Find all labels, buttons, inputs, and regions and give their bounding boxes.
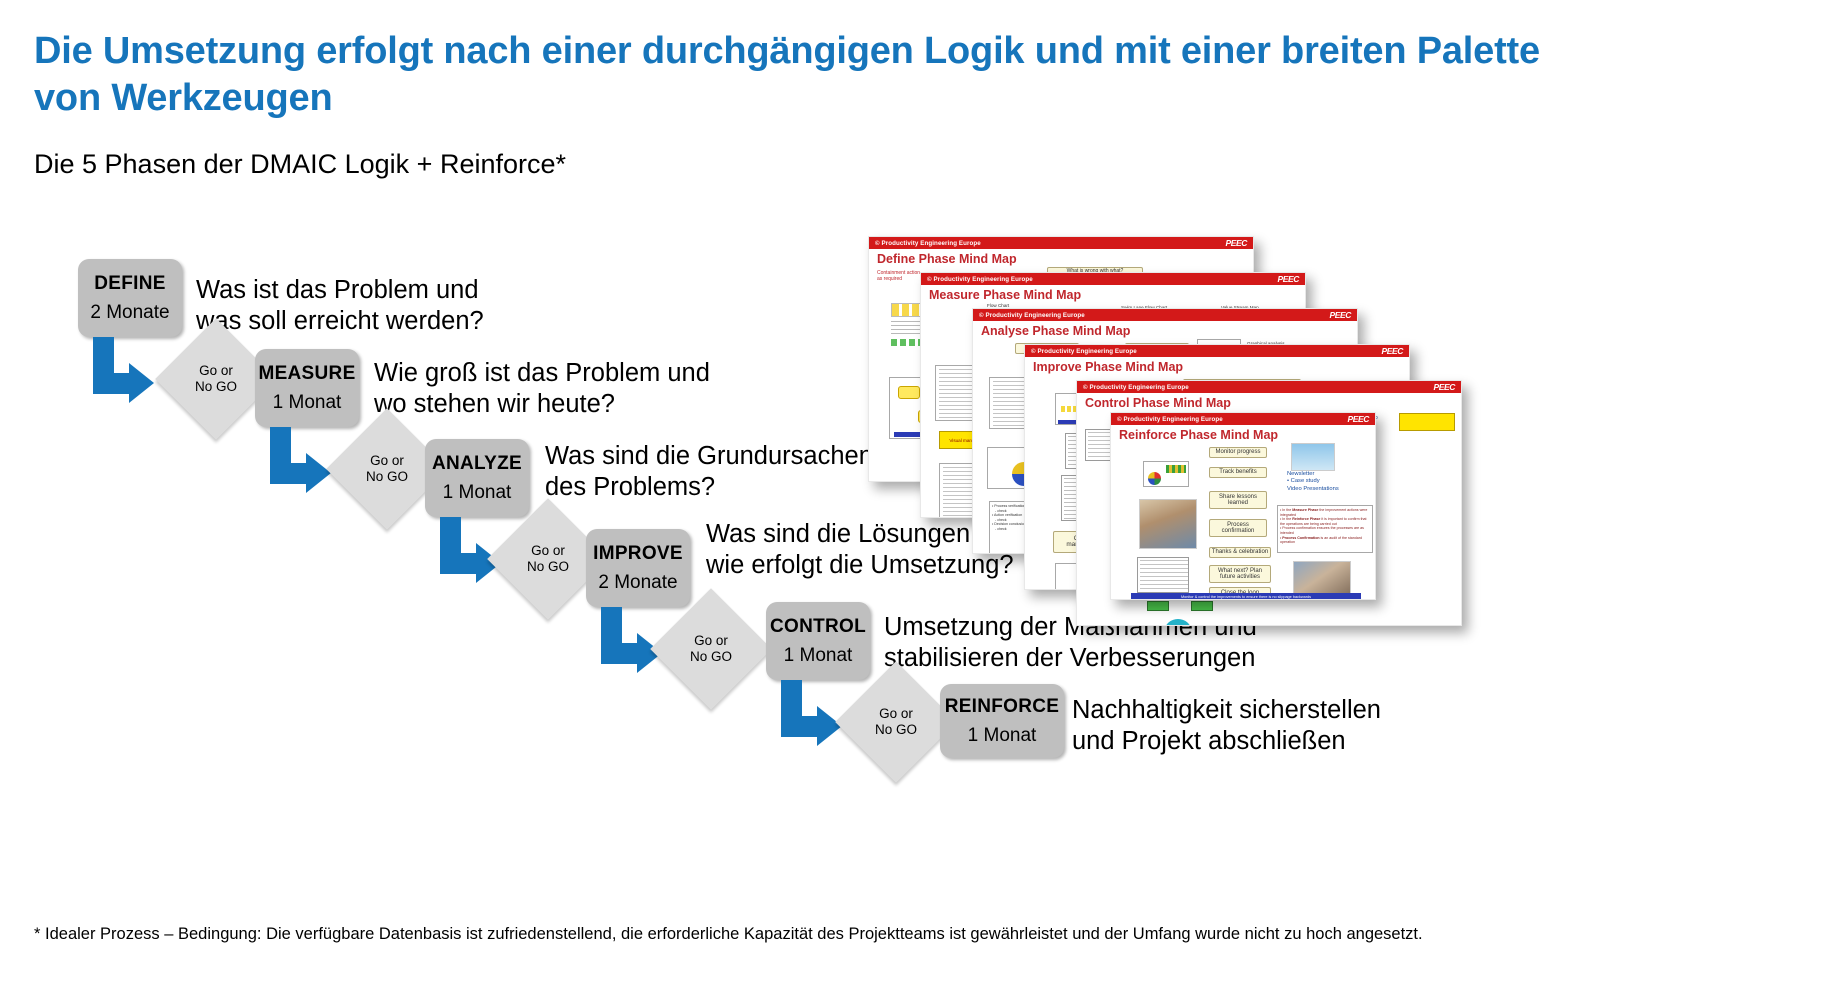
card-title: Reinforce Phase Mind Map xyxy=(1119,428,1278,442)
mini-highlight xyxy=(1399,413,1455,431)
phase-name: ANALYZE xyxy=(432,453,522,475)
card-header-bar: © Productivity Engineering Europe PEEC xyxy=(1025,345,1409,357)
card-title: Analyse Phase Mind Map xyxy=(981,324,1130,338)
peec-logo: PEEC xyxy=(1225,238,1247,248)
phase-name: IMPROVE xyxy=(593,543,683,565)
phase-duration: 1 Monat xyxy=(273,392,342,414)
phase-box-define[interactable]: DEFINE 2 Monate xyxy=(78,259,182,337)
card-header-bar: © Productivity Engineering Europe PEEC xyxy=(921,273,1305,285)
arrow-stem-horizontal xyxy=(93,373,131,394)
phase-name: REINFORCE xyxy=(945,696,1060,718)
card-header-bar: © Productivity Engineering Europe PEEC xyxy=(973,309,1357,321)
peec-logo: PEEC xyxy=(1433,382,1455,392)
node-what-next: What next? Plan future activities xyxy=(1209,565,1271,583)
peec-logo: PEEC xyxy=(1277,274,1299,284)
card-header-bar: © Productivity Engineering Europe PEEC xyxy=(1111,413,1375,425)
arrow-stem-horizontal xyxy=(601,643,639,664)
gate-label-1: Go or No GO xyxy=(173,363,259,395)
arrow-head xyxy=(129,363,154,403)
mini-graph xyxy=(1137,557,1189,593)
arrow-stem-horizontal xyxy=(440,553,478,574)
mini-celebration-photo xyxy=(1139,499,1197,549)
node-monitor-progress: Monitor progress xyxy=(1209,447,1267,458)
card-copyright: © Productivity Engineering Europe xyxy=(1083,384,1189,391)
card-copyright: © Productivity Engineering Europe xyxy=(1031,348,1137,355)
page-title: Die Umsetzung erfolgt nach einer durchgä… xyxy=(34,28,1594,122)
card-header-bar: © Productivity Engineering Europe PEEC xyxy=(869,237,1253,249)
card-body: Monitor progress Track benefits Share le… xyxy=(1111,443,1375,599)
peec-logo: PEEC xyxy=(1329,310,1351,320)
node-thanks-celebration: Thanks & celebration xyxy=(1209,547,1271,558)
card-title: Control Phase Mind Map xyxy=(1085,396,1231,410)
phase-description-define: Was ist das Problem und was soll erreich… xyxy=(196,275,616,337)
phase-name: CONTROL xyxy=(770,616,866,638)
card-footer-bar: Monitor & control the improvements to en… xyxy=(1131,593,1361,600)
gate-label-3: Go or No GO xyxy=(505,543,591,575)
mini-green-node xyxy=(1147,601,1169,611)
slide-canvas: Die Umsetzung erfolgt nach einer durchgä… xyxy=(0,0,1848,986)
phase-name: MEASURE xyxy=(258,363,355,385)
gate-label-5: Go or No GO xyxy=(853,706,939,738)
node-process-confirmation: Process confirmation xyxy=(1209,519,1267,537)
phase-box-reinforce[interactable]: REINFORCE 1 Monat xyxy=(940,684,1064,758)
card-title: Measure Phase Mind Map xyxy=(929,288,1081,302)
mini-bullets: • In the Measure Phase the improvement a… xyxy=(1278,506,1372,547)
node-share-lessons: Share lessons learned xyxy=(1209,491,1267,509)
phase-name: DEFINE xyxy=(94,273,165,295)
phase-duration: 1 Monat xyxy=(784,645,853,667)
mini-bar xyxy=(1166,465,1186,473)
mind-map-card-reinforce[interactable]: © Productivity Engineering Europe PEEC R… xyxy=(1110,412,1376,600)
page-subtitle: Die 5 Phasen der DMAIC Logik + Reinforce… xyxy=(34,148,1134,180)
mini-text-panel: • In the Measure Phase the improvement a… xyxy=(1277,505,1373,553)
arrow-stem-horizontal xyxy=(781,716,819,737)
phase-description-measure: Wie groß ist das Problem und wo stehen w… xyxy=(374,358,804,420)
gate-label-2: Go or No GO xyxy=(344,453,430,485)
peec-logo: PEEC xyxy=(1347,414,1369,424)
mini-circle-icon xyxy=(1165,619,1191,626)
mini-node xyxy=(898,386,920,399)
arrow-head xyxy=(306,453,331,493)
phase-box-control[interactable]: CONTROL 1 Monat xyxy=(766,602,870,680)
node-newsletter-list: Newsletter • Case study Video Presentati… xyxy=(1287,471,1371,493)
card-copyright: © Productivity Engineering Europe xyxy=(927,276,1033,283)
card-copyright: © Productivity Engineering Europe xyxy=(979,312,1085,319)
phase-duration: 2 Monate xyxy=(90,302,169,324)
mini-green-node xyxy=(1191,601,1213,611)
mini-charts-panel xyxy=(1143,461,1189,487)
phase-box-measure[interactable]: MEASURE 1 Monat xyxy=(255,349,359,427)
mini-lines xyxy=(1140,560,1188,592)
card-header-bar: © Productivity Engineering Europe PEEC xyxy=(1077,381,1461,393)
mini-binoculars-photo xyxy=(1291,443,1335,471)
card-title: Improve Phase Mind Map xyxy=(1033,360,1183,374)
peec-logo: PEEC xyxy=(1381,346,1403,356)
arrow-stem-horizontal xyxy=(270,463,308,484)
phase-description-reinforce: Nachhaltigkeit sicherstellen und Projekt… xyxy=(1072,695,1542,757)
phase-box-analyze[interactable]: ANALYZE 1 Monat xyxy=(425,439,529,517)
node-track-benefits: Track benefits xyxy=(1209,467,1267,478)
footnote: * Idealer Prozess – Bedingung: Die verfü… xyxy=(34,924,1824,944)
gate-label-4: Go or No GO xyxy=(668,633,754,665)
card-title: Define Phase Mind Map xyxy=(877,252,1017,266)
phase-duration: 2 Monate xyxy=(598,572,677,594)
mini-lines xyxy=(993,381,1027,427)
card-copyright: © Productivity Engineering Europe xyxy=(1117,416,1223,423)
mini-pie-icon xyxy=(1148,472,1161,485)
phase-box-improve[interactable]: IMPROVE 2 Monate xyxy=(586,529,690,607)
card-copyright: © Productivity Engineering Europe xyxy=(875,240,981,247)
phase-duration: 1 Monat xyxy=(443,482,512,504)
phase-duration: 1 Monat xyxy=(968,725,1037,747)
mini-panel xyxy=(989,377,1029,429)
